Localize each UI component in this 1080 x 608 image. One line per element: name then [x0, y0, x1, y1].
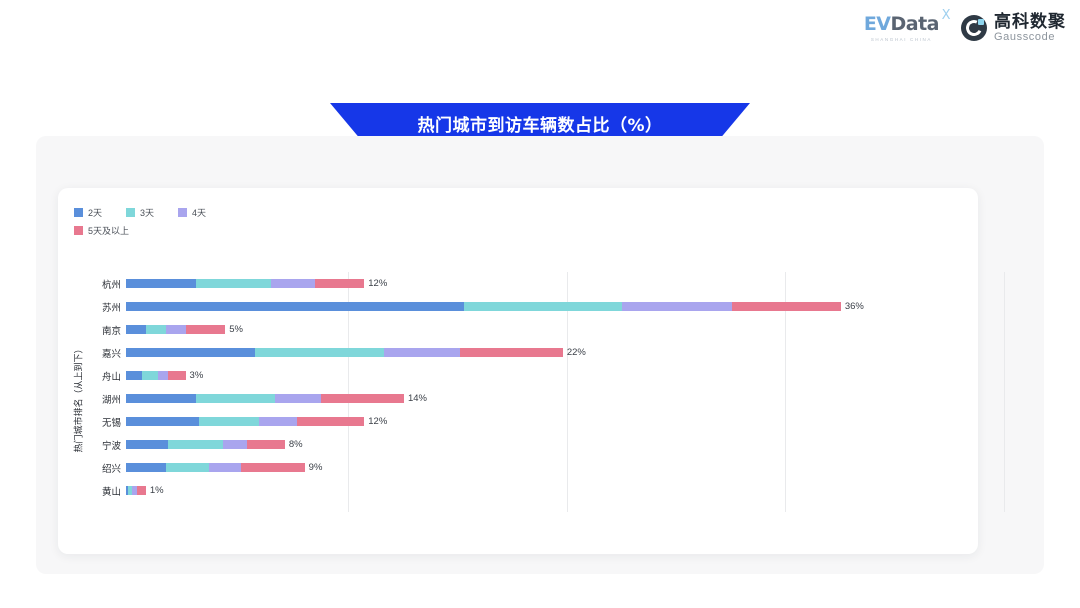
- legend-swatch-icon: [178, 208, 187, 217]
- page-title: 热门城市到访车辆数占比（%）: [417, 111, 662, 136]
- bar-value-label: 14%: [408, 394, 427, 403]
- bar-segment[interactable]: [168, 371, 186, 380]
- bar-segment[interactable]: [168, 440, 224, 449]
- bar-value-label: 12%: [368, 279, 387, 288]
- legend-item[interactable]: 2天: [74, 206, 102, 219]
- legend-swatch-icon: [126, 208, 135, 217]
- brand-logo-bar: EVDataX shanghai china 高科数聚 Gausscode: [0, 0, 1080, 56]
- evdata-x-icon: X: [942, 9, 950, 22]
- bar-segment[interactable]: [622, 302, 731, 311]
- bar-segment[interactable]: [142, 371, 158, 380]
- bar-segment[interactable]: [271, 279, 315, 288]
- chart-bar-row[interactable]: 舟山3%: [74, 364, 964, 387]
- bar-segment[interactable]: [126, 371, 142, 380]
- legend-label: 4天: [192, 206, 206, 219]
- category-label: 无锡: [74, 415, 126, 429]
- legend-swatch-icon: [74, 208, 83, 217]
- bar-segment[interactable]: [384, 348, 459, 357]
- bar-segment[interactable]: [196, 394, 275, 403]
- evdata-logo: EVDataX shanghai china: [864, 15, 939, 42]
- chart-bar-row[interactable]: 湖州14%: [74, 387, 964, 410]
- stacked-bar[interactable]: [126, 302, 841, 311]
- legend-label: 3天: [140, 206, 154, 219]
- bar-segment[interactable]: [126, 279, 196, 288]
- bar-segment[interactable]: [126, 417, 199, 426]
- bar-segment[interactable]: [126, 463, 166, 472]
- evdata-data-text: Data: [891, 13, 940, 35]
- bar-segment[interactable]: [315, 279, 365, 288]
- chart-bar-row[interactable]: 绍兴9%: [74, 456, 964, 479]
- legend-label: 5天及以上: [88, 224, 129, 237]
- bar-segment[interactable]: [166, 325, 186, 334]
- bar-segment[interactable]: [199, 417, 259, 426]
- bar-segment[interactable]: [126, 302, 464, 311]
- chart-bar-row[interactable]: 宁波8%: [74, 433, 964, 456]
- stacked-bar[interactable]: [126, 394, 404, 403]
- bar-segment[interactable]: [166, 463, 210, 472]
- bar-segment[interactable]: [275, 394, 321, 403]
- bar-segment[interactable]: [137, 486, 146, 495]
- legend-swatch-icon: [74, 226, 83, 235]
- stacked-bar[interactable]: [126, 463, 305, 472]
- bar-segment[interactable]: [241, 463, 305, 472]
- evdata-wordmark: EVDataX: [864, 15, 939, 34]
- bar-segment[interactable]: [223, 440, 247, 449]
- category-label: 宁波: [74, 438, 126, 452]
- gausscode-logo-icon: [961, 15, 987, 41]
- chart-bar-row[interactable]: 嘉兴22%: [74, 341, 964, 364]
- bar-segment[interactable]: [158, 371, 168, 380]
- stacked-bar[interactable]: [126, 486, 146, 495]
- legend-label: 2天: [88, 206, 102, 219]
- bar-segment[interactable]: [259, 417, 297, 426]
- chart-bar-row[interactable]: 无锡12%: [74, 410, 964, 433]
- category-label: 杭州: [74, 277, 126, 291]
- legend-item[interactable]: 5天及以上: [74, 224, 374, 237]
- stacked-bar[interactable]: [126, 325, 225, 334]
- bar-segment[interactable]: [247, 440, 285, 449]
- bar-segment[interactable]: [209, 463, 241, 472]
- bar-value-label: 1%: [150, 486, 164, 495]
- stacked-bar[interactable]: [126, 279, 364, 288]
- chart-bar-row[interactable]: 苏州36%: [74, 295, 964, 318]
- bar-segment[interactable]: [126, 440, 168, 449]
- category-label: 嘉兴: [74, 346, 126, 360]
- bar-segment[interactable]: [126, 394, 196, 403]
- bar-segment[interactable]: [460, 348, 563, 357]
- gridline: [1004, 272, 1005, 512]
- chart-bar-row[interactable]: 杭州12%: [74, 272, 964, 295]
- category-label: 舟山: [74, 369, 126, 383]
- bar-segment[interactable]: [196, 279, 271, 288]
- chart-plot-area: 热门城市排名（从上到下） 杭州12%苏州36%南京5%嘉兴22%舟山3%湖州14…: [74, 272, 964, 524]
- chart-bar-row[interactable]: 南京5%: [74, 318, 964, 341]
- chart-bar-rows: 杭州12%苏州36%南京5%嘉兴22%舟山3%湖州14%无锡12%宁波8%绍兴9…: [74, 272, 964, 524]
- bar-value-label: 5%: [229, 325, 243, 334]
- bar-value-label: 12%: [368, 417, 387, 426]
- legend-item[interactable]: 3天: [126, 206, 154, 219]
- bar-segment[interactable]: [464, 302, 623, 311]
- stacked-bar[interactable]: [126, 417, 364, 426]
- legend-item[interactable]: 4天: [178, 206, 206, 219]
- bar-segment[interactable]: [146, 325, 166, 334]
- bar-segment[interactable]: [297, 417, 365, 426]
- bar-value-label: 9%: [309, 463, 323, 472]
- bar-value-label: 36%: [845, 302, 864, 311]
- stacked-bar[interactable]: [126, 348, 563, 357]
- bar-segment[interactable]: [186, 325, 226, 334]
- stacked-bar[interactable]: [126, 371, 186, 380]
- stacked-bar[interactable]: [126, 440, 285, 449]
- bar-value-label: 3%: [190, 371, 204, 380]
- gausscode-wordmark: 高科数聚 Gausscode: [994, 13, 1066, 43]
- category-label: 南京: [74, 323, 126, 337]
- gausscode-cn-name: 高科数聚: [994, 13, 1066, 30]
- bar-segment[interactable]: [732, 302, 841, 311]
- bar-segment[interactable]: [126, 348, 255, 357]
- evdata-ev-text: EV: [864, 13, 891, 35]
- evdata-tagline: shanghai china: [871, 37, 932, 42]
- gausscode-logo: 高科数聚 Gausscode: [961, 13, 1066, 43]
- bar-segment[interactable]: [126, 325, 146, 334]
- bar-segment[interactable]: [255, 348, 384, 357]
- gausscode-en-name: Gausscode: [994, 32, 1066, 43]
- chart-legend: 2天3天4天5天及以上: [74, 206, 374, 242]
- bar-value-label: 8%: [289, 440, 303, 449]
- bar-value-label: 22%: [567, 348, 586, 357]
- chart-bar-row[interactable]: 黄山1%: [74, 479, 964, 502]
- category-label: 苏州: [74, 300, 126, 314]
- bar-segment[interactable]: [321, 394, 404, 403]
- category-label: 湖州: [74, 392, 126, 406]
- category-label: 绍兴: [74, 461, 126, 475]
- category-label: 黄山: [74, 484, 126, 498]
